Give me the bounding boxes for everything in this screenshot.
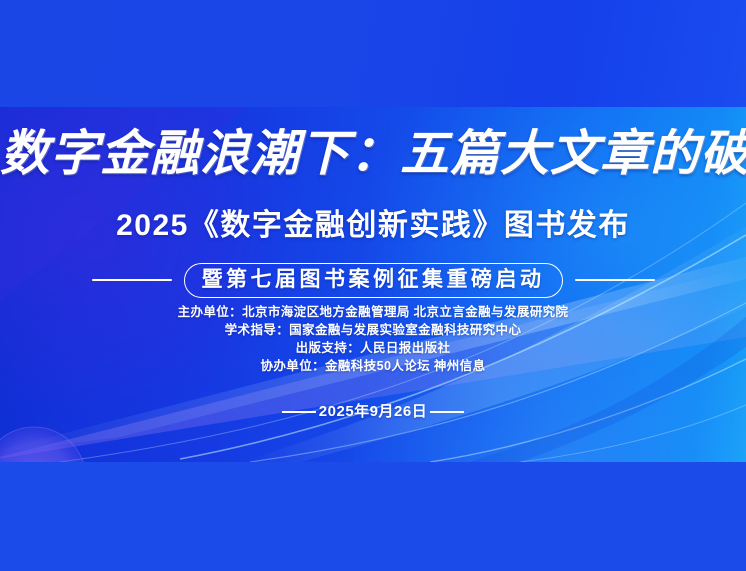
info-line-co-organizer: 协办单位：金融科技50人论坛 神州信息 xyxy=(0,357,746,375)
info-line-academic-guidance: 学术指导：国家金融与发展实验室金融科技研究中心 xyxy=(0,321,746,339)
poster-stage: 数字金融浪潮下：五篇大文章的破局与重构 2025《数字金融创新实践》图书发布 暨… xyxy=(0,0,746,571)
rule-right xyxy=(575,279,655,281)
poster-subtitle: 2025《数字金融创新实践》图书发布 xyxy=(0,211,746,241)
date-dash-left xyxy=(282,411,316,413)
organizer-info-block: 主办单位：北京市海淀区地方金融管理局 北京立言金融与发展研究院 学术指导：国家金… xyxy=(0,303,746,375)
date-dash-right xyxy=(430,411,464,413)
poster-content: 数字金融浪潮下：五篇大文章的破局与重构 2025《数字金融创新实践》图书发布 暨… xyxy=(0,107,746,462)
launch-pill: 暨第七届图书案例征集重磅启动 xyxy=(184,263,563,298)
pill-row: 暨第七届图书案例征集重磅启动 xyxy=(0,262,746,298)
info-line-publishing-support: 出版支持：人民日报出版社 xyxy=(0,339,746,357)
info-line-host: 主办单位：北京市海淀区地方金融管理局 北京立言金融与发展研究院 xyxy=(0,303,746,321)
event-date: 2025年9月26日 xyxy=(319,404,427,419)
poster-title: 数字金融浪潮下：五篇大文章的破局与重构 xyxy=(0,129,746,178)
top-background-strip xyxy=(0,0,746,107)
date-row: 2025年9月26日 xyxy=(0,404,746,419)
rule-left xyxy=(92,279,172,281)
bottom-background-strip xyxy=(0,462,746,571)
